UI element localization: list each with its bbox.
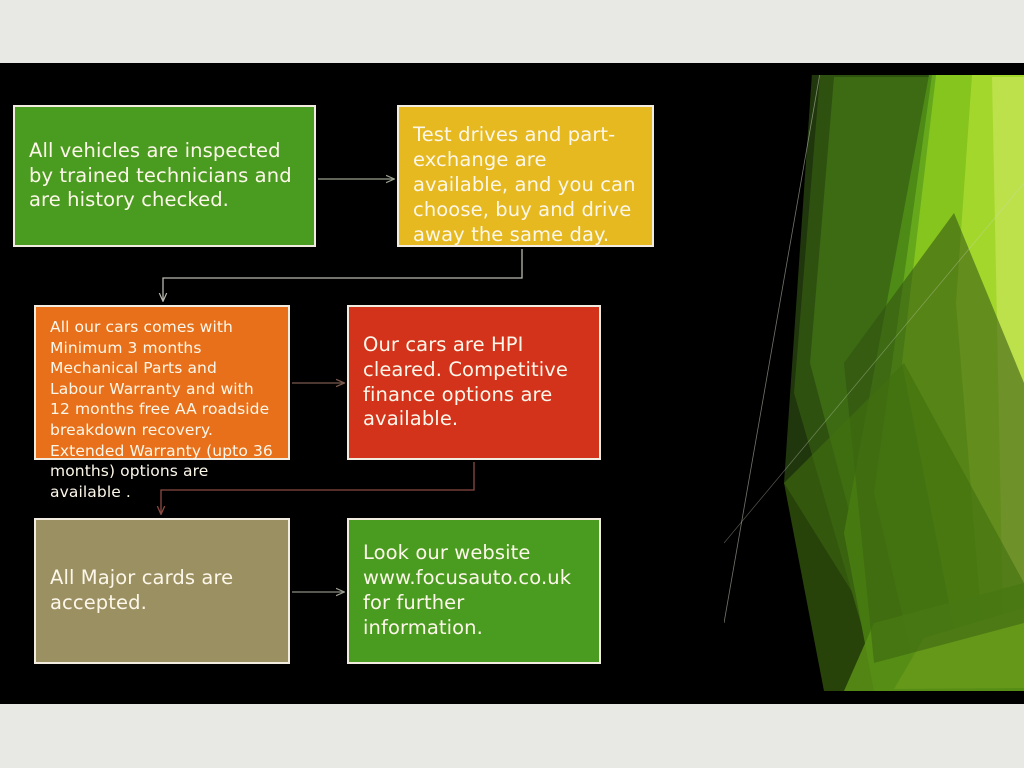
artwork-shapes (724, 63, 1024, 704)
flowchart-box-inspection[interactable]: All vehicles are inspected by trained te… (13, 105, 316, 247)
presentation-slide: All vehicles are inspected by trained te… (0, 63, 1024, 704)
flowchart-box-warranty[interactable]: All our cars comes with Minimum 3 months… (34, 305, 290, 460)
flowchart-box-test-drives[interactable]: Test drives and part-exchange are availa… (397, 105, 654, 247)
connector-test-drives-to-warranty (163, 249, 522, 301)
letterbox-top (0, 0, 1024, 63)
flowchart-box-cards[interactable]: All Major cards are accepted. (34, 518, 290, 664)
flowchart-box-website[interactable]: Look our website www.focusauto.co.uk for… (347, 518, 601, 664)
abstract-green-polygons-artwork (724, 63, 1024, 704)
flowchart-box-hpi-finance[interactable]: Our cars are HPI cleared. Competitive fi… (347, 305, 601, 460)
slide-viewer: All vehicles are inspected by trained te… (0, 0, 1024, 768)
letterbox-bottom (0, 704, 1024, 768)
